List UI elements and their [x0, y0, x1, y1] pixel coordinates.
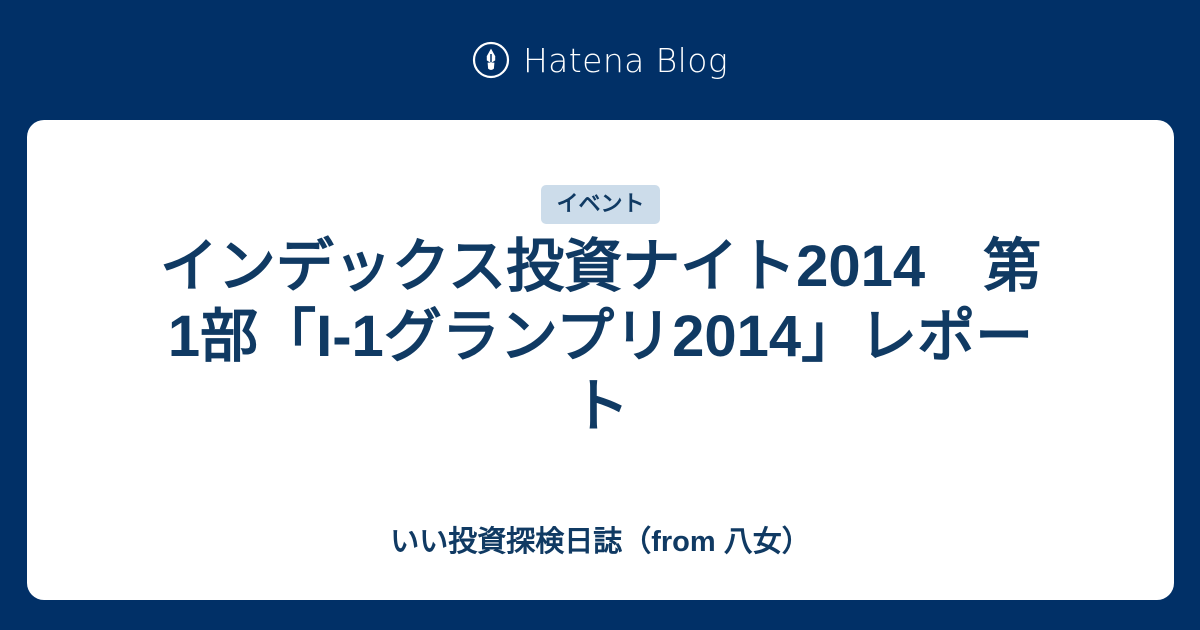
brand-header: Hatena Blog [0, 0, 1200, 120]
entry-card: イベント インデックス投資ナイト2014 第1部「I-1グランプリ2014」レポ… [27, 120, 1174, 600]
category-badge[interactable]: イベント [541, 185, 659, 224]
entry-title: インデックス投資ナイト2014 第1部「I-1グランプリ2014」レポート [151, 232, 1051, 442]
category-badge-row: イベント [67, 185, 1134, 224]
ogp-card-canvas: Hatena Blog イベント インデックス投資ナイト2014 第1部「I-1… [0, 0, 1200, 630]
hatena-pen-nib-icon [472, 41, 510, 79]
brand-name: Hatena Blog [523, 44, 728, 77]
blog-title: いい投資探検日誌（from 八女） [27, 524, 1174, 562]
